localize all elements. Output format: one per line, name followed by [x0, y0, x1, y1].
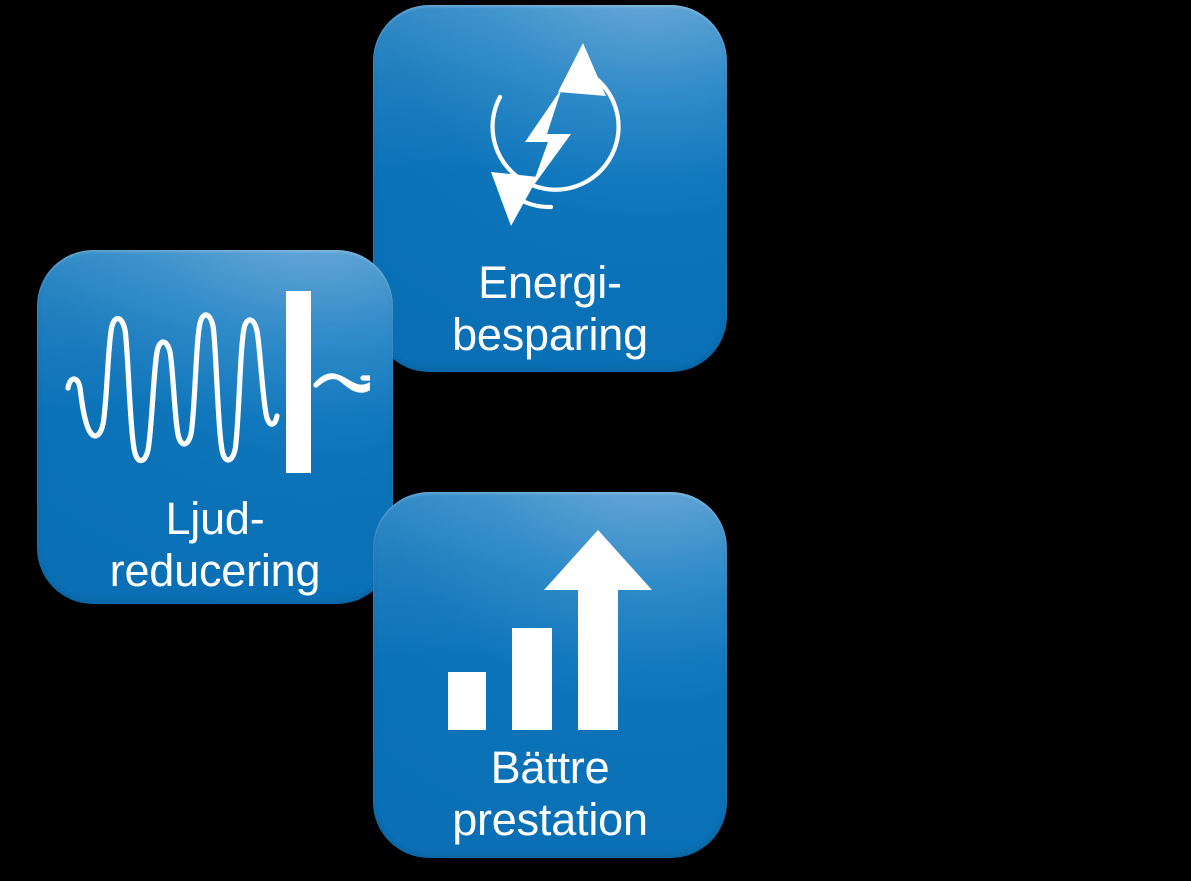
tile-noise-reduction-label: Ljud- reducering: [37, 493, 393, 597]
sound-wave-barrier-icon: [37, 278, 393, 478]
tile-energy-saving[interactable]: Energi- besparing: [373, 5, 727, 372]
infographic-canvas: Energi- besparing Ljud- reducering: [0, 0, 1191, 881]
tile-better-performance-label: Bättre prestation: [373, 742, 727, 846]
tile-energy-saving-content: Energi- besparing: [373, 5, 727, 372]
tile-noise-reduction[interactable]: Ljud- reducering: [37, 250, 393, 604]
rising-bar-chart-arrow-icon: [373, 516, 727, 732]
tile-energy-saving-label: Energi- besparing: [373, 257, 727, 361]
tile-better-performance-content: Bättre prestation: [373, 492, 727, 858]
energy-bolt-cycle-icon: [373, 39, 727, 229]
tile-noise-reduction-content: Ljud- reducering: [37, 250, 393, 604]
tile-better-performance[interactable]: Bättre prestation: [373, 492, 727, 858]
